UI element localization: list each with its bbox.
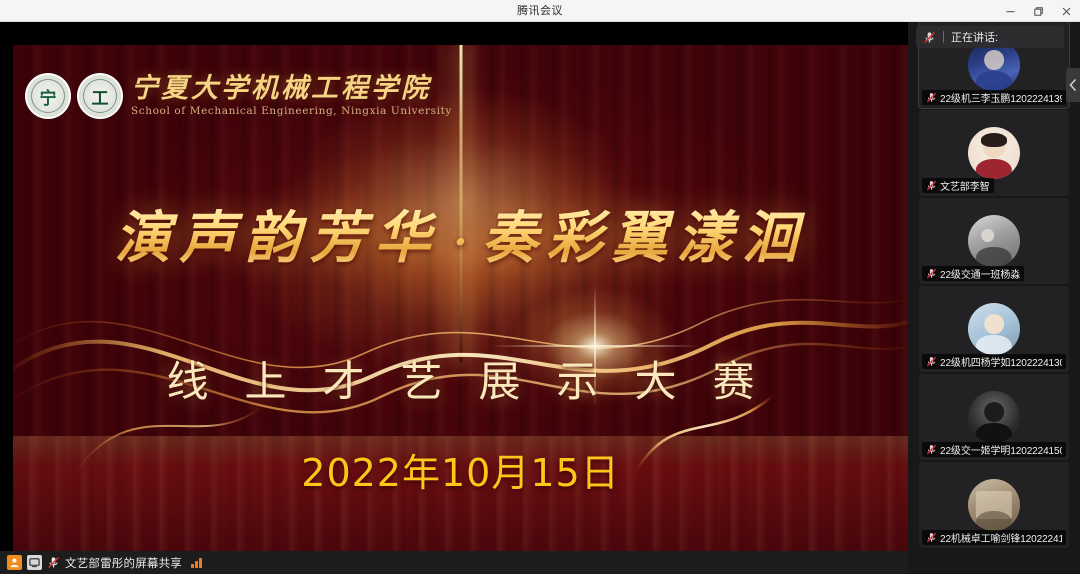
- shared-screen-content: 宁 工 宁夏大学机械工程学院 School of Mechanical Engi…: [13, 45, 908, 573]
- slide-headline: 演声韵芳华·奏彩翼漾洄: [13, 193, 908, 274]
- slide-subtitle: 线上才艺展示大赛: [13, 348, 908, 409]
- screen-share-owner-label: 文艺部雷彤的屏幕共享: [65, 555, 182, 571]
- avatar: [968, 215, 1020, 267]
- avatar-head-shape: [984, 402, 1004, 422]
- close-button[interactable]: [1052, 0, 1080, 22]
- participant-name-chip: 22机械卓工喻剑锋12022241268: [922, 530, 1066, 545]
- university-seal-icon: 宁: [25, 73, 71, 119]
- speaking-microphone-muted-icon: [923, 31, 936, 44]
- participant-name-chip: 文艺部李智: [922, 178, 994, 193]
- seal-left-char: 宁: [40, 84, 57, 109]
- titlebar[interactable]: 腾讯会议: [0, 0, 1080, 22]
- avatar-body-shape: [976, 335, 1012, 355]
- rail-collapse-toggle[interactable]: [1066, 68, 1080, 102]
- network-signal-icon: [191, 557, 202, 568]
- speaking-banner: 正在讲话:: [916, 26, 1064, 48]
- avatar-body-shape: [976, 71, 1012, 91]
- avatar-body-shape: [976, 247, 1012, 267]
- window-title: 腾讯会议: [0, 0, 1080, 22]
- microphone-muted-icon: [926, 180, 937, 191]
- restore-button[interactable]: [1024, 0, 1052, 22]
- screen-share-icon: [27, 555, 42, 570]
- participant-name-chip: 22级机三李玉鹏12022241396: [922, 90, 1066, 105]
- microphone-muted-icon: [926, 268, 937, 279]
- avatar-body-shape: [976, 159, 1012, 179]
- participant-name-chip: 22级机四杨学如12022241307: [922, 354, 1066, 369]
- tencent-meeting-window: 腾讯会议: [0, 0, 1080, 574]
- slide-date: 2022年10月15日: [13, 442, 908, 497]
- participant-name: 22级交通一班杨淼: [940, 266, 1020, 281]
- microphone-muted-icon: [926, 532, 937, 543]
- meeting-body: 宁 工 宁夏大学机械工程学院 School of Mechanical Engi…: [0, 22, 1080, 574]
- avatar: [968, 127, 1020, 179]
- participant-tile[interactable]: 22级机四杨学如12022241307: [919, 286, 1069, 372]
- participant-name-chip: 22级交通一班杨淼: [922, 266, 1024, 281]
- avatar-body-shape: [976, 511, 1012, 531]
- close-icon: [1061, 6, 1072, 17]
- microphone-muted-icon: [926, 92, 937, 103]
- microphone-muted-icon: [47, 556, 60, 569]
- avatar: [968, 479, 1020, 531]
- screen-share-status-bar: 文艺部雷彤的屏幕共享: [0, 551, 908, 574]
- avatar-head-shape: [981, 229, 995, 243]
- participant-tile[interactable]: 22机械卓工喻剑锋12022241268: [919, 462, 1069, 548]
- headline-separator: ·: [440, 219, 482, 266]
- participants-icon: [7, 555, 22, 570]
- chevron-collapse-icon: [1069, 79, 1077, 91]
- avatar-head-shape: [984, 50, 1004, 70]
- participant-name: 22级机三李玉鹏12022241396: [940, 90, 1062, 105]
- university-name-cn: 宁夏大学机械工程学院: [131, 75, 452, 103]
- participant-tile[interactable]: 22级交通一班杨淼: [919, 198, 1069, 284]
- participant-tile[interactable]: 文艺部李智: [919, 110, 1069, 196]
- participant-name-chip: 22级交一姬学明12022241508: [922, 442, 1066, 457]
- participant-tile[interactable]: 22级交一姬学明12022241508: [919, 374, 1069, 460]
- speaking-now-label: 正在讲话:: [951, 29, 998, 45]
- seal-right-char: 工: [92, 84, 109, 109]
- shared-screen-stage[interactable]: 宁 工 宁夏大学机械工程学院 School of Mechanical Engi…: [0, 22, 908, 574]
- avatar-head-shape: [983, 136, 1006, 158]
- university-logo-lockup: 宁 工 宁夏大学机械工程学院 School of Mechanical Engi…: [25, 73, 452, 119]
- banner-divider: [943, 31, 944, 43]
- avatar: [968, 391, 1020, 443]
- university-text-block: 宁夏大学机械工程学院 School of Mechanical Engineer…: [131, 75, 452, 116]
- participant-name: 22级交一姬学明12022241508: [940, 442, 1062, 457]
- participant-rail[interactable]: 正在讲话:: [908, 22, 1080, 574]
- avatar-body-shape: [976, 423, 1012, 443]
- college-seal-icon: 工: [77, 73, 123, 119]
- restore-icon: [1033, 6, 1044, 17]
- participant-name: 文艺部李智: [940, 178, 990, 193]
- headline-right: 奏彩翼漾洄: [481, 205, 806, 271]
- microphone-muted-icon: [926, 356, 937, 367]
- avatar-head-shape: [984, 314, 1004, 334]
- microphone-muted-icon: [926, 444, 937, 455]
- avatar: [968, 303, 1020, 355]
- window-controls: [996, 0, 1080, 22]
- participant-name: 22机械卓工喻剑锋12022241268: [940, 530, 1062, 545]
- participant-name: 22级机四杨学如12022241307: [940, 354, 1062, 369]
- minimize-icon: [1005, 6, 1016, 17]
- presentation-slide: 宁 工 宁夏大学机械工程学院 School of Mechanical Engi…: [13, 45, 908, 573]
- university-name-en: School of Mechanical Engineering, Ningxi…: [131, 105, 452, 117]
- headline-left: 演声韵芳华: [115, 205, 440, 271]
- minimize-button[interactable]: [996, 0, 1024, 22]
